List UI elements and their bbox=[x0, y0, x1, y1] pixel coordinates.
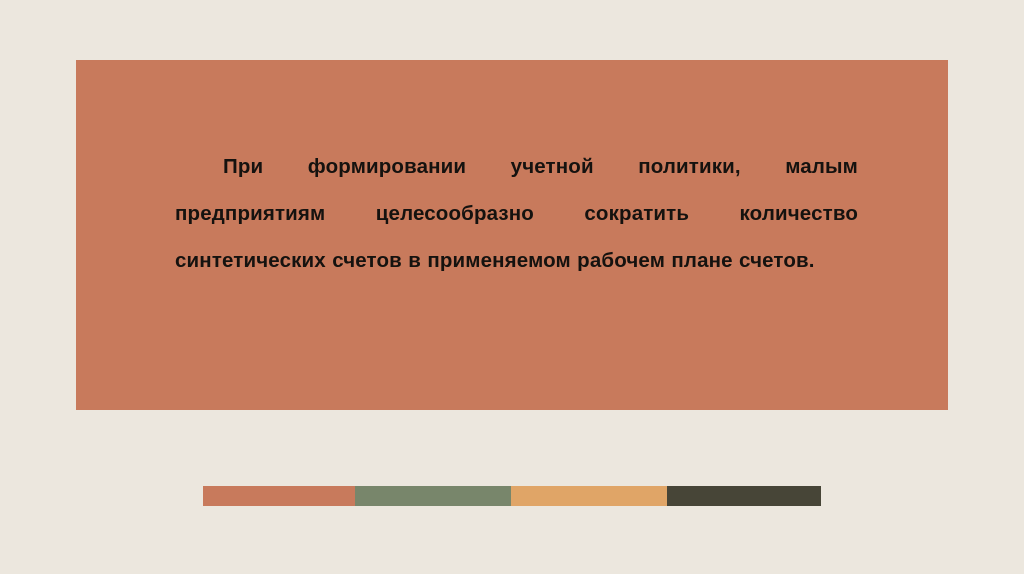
accent-bar-segment-1 bbox=[203, 486, 355, 506]
slide-canvas: При формировании учетной политики, малым… bbox=[0, 0, 1024, 574]
panel-body-text: При формировании учетной политики, малым… bbox=[175, 143, 858, 284]
accent-bar-segment-3 bbox=[511, 486, 667, 506]
content-panel: При формировании учетной политики, малым… bbox=[76, 60, 948, 410]
accent-bar-segment-2 bbox=[355, 486, 511, 506]
accent-bar bbox=[203, 486, 821, 506]
accent-bar-segment-4 bbox=[667, 486, 821, 506]
